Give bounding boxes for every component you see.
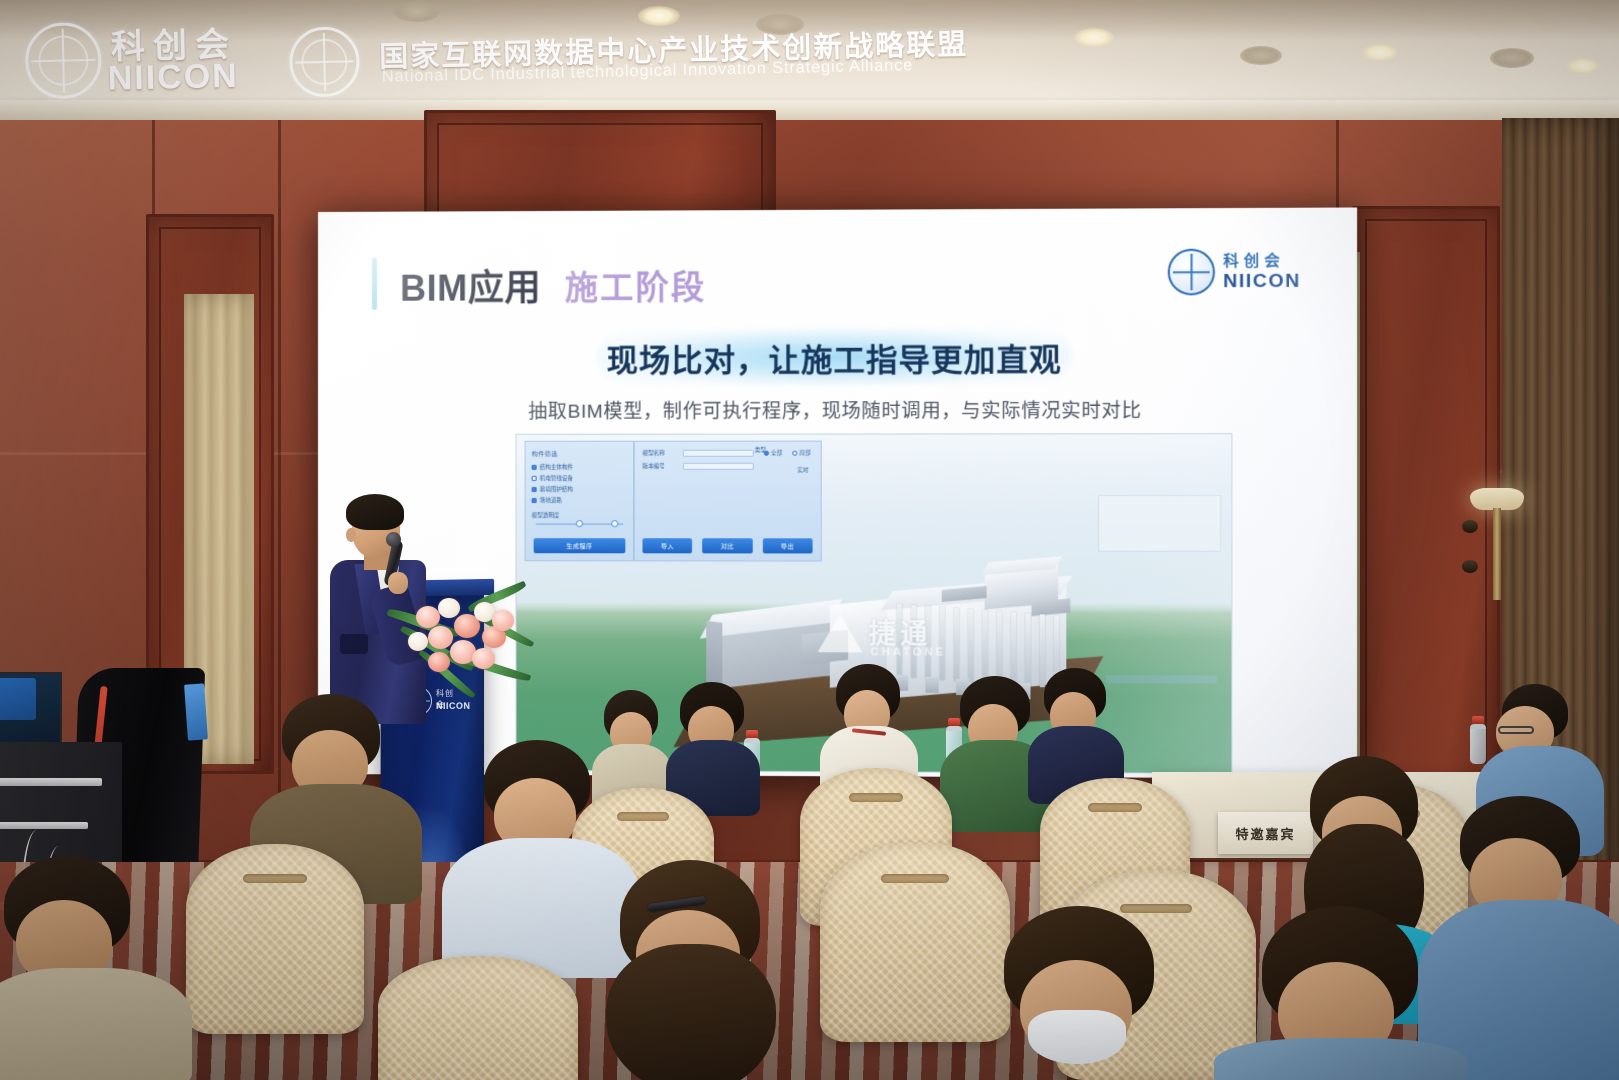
bottle-cap (1472, 716, 1484, 724)
wall-sconce-ornament (1462, 560, 1478, 573)
bim-transparency-slider[interactable] (536, 523, 624, 525)
audience-chair[interactable] (186, 844, 364, 1034)
chatone-watermark: 捷通 CHATONE (818, 610, 996, 671)
slider-handle[interactable] (576, 520, 583, 527)
slide-logo-cn: 科创会 (1223, 249, 1285, 271)
slide-headline-area: 现场比对，让施工指导更加直观 (318, 327, 1357, 386)
slide-niicon-logo: 科创会 NIICON (1168, 246, 1322, 297)
bim-checkbox-row[interactable]: 结构主体构件 (532, 463, 628, 471)
slide-headline: 现场比对，让施工指导更加直观 (607, 334, 1062, 380)
bim-generate-button[interactable]: 生成程序 (534, 538, 626, 553)
audience-member (974, 906, 1194, 1080)
niica-globe-icon (289, 26, 361, 98)
av-rack-rail (0, 778, 102, 786)
flower-bloom (408, 632, 428, 651)
speaker-ear (346, 528, 356, 542)
flower-bloom (416, 606, 440, 628)
flower-bloom (492, 610, 514, 631)
bim-field-label: 模型名称 (642, 449, 676, 457)
audience-member (0, 856, 170, 1080)
slider-handle[interactable] (611, 520, 618, 527)
radio-icon[interactable] (792, 450, 797, 455)
wall-sconce-ornament (1462, 520, 1478, 533)
flower-bloom (438, 598, 460, 618)
speaker-hair (346, 494, 404, 530)
bim-radio-label: 全部 (771, 449, 782, 457)
av-blue-panel (184, 683, 208, 740)
bim-checkbox-label: 幕墙围护结构 (540, 485, 573, 493)
chatone-triangle-icon (818, 614, 863, 652)
niicon-globe-icon (25, 22, 103, 100)
av-equipment-case (0, 678, 36, 720)
banner-org-left-en: NIICON (107, 57, 239, 99)
checkbox-icon[interactable] (532, 486, 537, 491)
wall-sconce-shade (1470, 488, 1524, 510)
bim-radio-sub-label: 实时 (797, 466, 808, 474)
conference-photo-scene: 科创会 NIICON 国家互联网数据中心产业技术创新战略联盟 National … (0, 0, 1619, 1080)
radio-icon[interactable] (764, 450, 769, 455)
bim-import-button[interactable]: 导入 (642, 538, 692, 553)
bim-checkbox-label: 结构主体构件 (540, 463, 573, 471)
globe-inner-ring (301, 38, 348, 85)
bim-radio-group[interactable]: 全部 局部 (764, 449, 811, 457)
checkbox-icon[interactable] (532, 464, 537, 469)
door-panel-inset (1365, 219, 1487, 813)
bim-control-panel: 构件筛选 结构主体构件 机电管线设备 幕墙围护结构 (525, 441, 822, 562)
bim-radio-label: 局部 (799, 449, 810, 457)
av-rack-rail (0, 822, 88, 829)
globe-inner-ring (38, 35, 89, 86)
bim-export-button[interactable]: 导出 (763, 538, 813, 553)
person-torso (0, 968, 192, 1080)
bim-form-pane: 类型 模型名称 版本编号 全部 (634, 442, 820, 561)
bim-version-input[interactable] (683, 462, 754, 469)
face-mask (1028, 1010, 1126, 1064)
floral-arrangement (388, 570, 528, 705)
wall-sconce-stem (1493, 508, 1501, 600)
flower-bloom (428, 626, 453, 649)
bim-checkbox-row[interactable]: 场地道路 (532, 496, 628, 504)
speaker-pocket (340, 634, 368, 654)
bim-field-label: 版本编号 (642, 462, 676, 470)
bim-slider-label: 模型透明度 (532, 511, 628, 519)
bim-model-name-input[interactable] (683, 449, 754, 456)
eyeglasses (1498, 726, 1534, 734)
flower-bloom (472, 648, 495, 669)
bim-checkbox-label: 机电管线设备 (540, 474, 573, 482)
checkbox-icon[interactable] (532, 498, 537, 503)
model-facade-fin (1011, 612, 1016, 685)
model-column-base (925, 677, 938, 693)
bim-checkbox-row[interactable]: 机电管线设备 (532, 474, 628, 482)
bim-checkbox-label: 场地道路 (540, 496, 562, 504)
model-facade-fin (997, 611, 1002, 684)
bim-action-button-row: 导入 对比 导出 (642, 538, 812, 553)
bim-filter-pane: 构件筛选 结构主体构件 机电管线设备 幕墙围护结构 (526, 442, 635, 561)
audience-member (596, 860, 796, 1080)
audience-member (1228, 906, 1458, 1080)
person-torso (1214, 1038, 1468, 1080)
bim-panel-title: 构件筛选 (532, 449, 628, 458)
audience-member (1434, 796, 1619, 1080)
placard-label: 特邀嘉宾 (1235, 824, 1295, 843)
slide-subline: 抽取BIM模型，制作可执行程序，现场随时调用，与实际情况实时对比 (318, 395, 1357, 424)
microphone-head-icon (386, 532, 401, 547)
bim-compare-button[interactable]: 对比 (702, 538, 752, 553)
checkbox-icon[interactable] (532, 475, 537, 480)
flower-bloom (428, 652, 450, 672)
title-accent-bar (372, 258, 377, 310)
bim-checkbox-row[interactable]: 幕墙围护结构 (532, 485, 628, 493)
watermark-en: CHATONE (870, 646, 946, 658)
slide-logo-en: NIICON (1223, 271, 1301, 294)
bim-radio-option[interactable]: 局部 (792, 449, 810, 457)
app-status-bar (1106, 675, 1217, 683)
bim-field-row[interactable]: 版本编号 (642, 462, 812, 470)
model-low-block-side (706, 621, 722, 688)
bim-radio-option[interactable]: 全部 (764, 449, 782, 457)
audience-member (672, 682, 754, 812)
audience-chair[interactable] (378, 956, 578, 1080)
slide-title-main: BIM应用 (400, 259, 541, 312)
slide-title-accent: 施工阶段 (565, 261, 706, 310)
person-hair-long (606, 944, 776, 1080)
niicon-globe-icon (1168, 249, 1215, 296)
door-panel-inset (437, 123, 763, 217)
app-secondary-panel (1098, 495, 1221, 552)
